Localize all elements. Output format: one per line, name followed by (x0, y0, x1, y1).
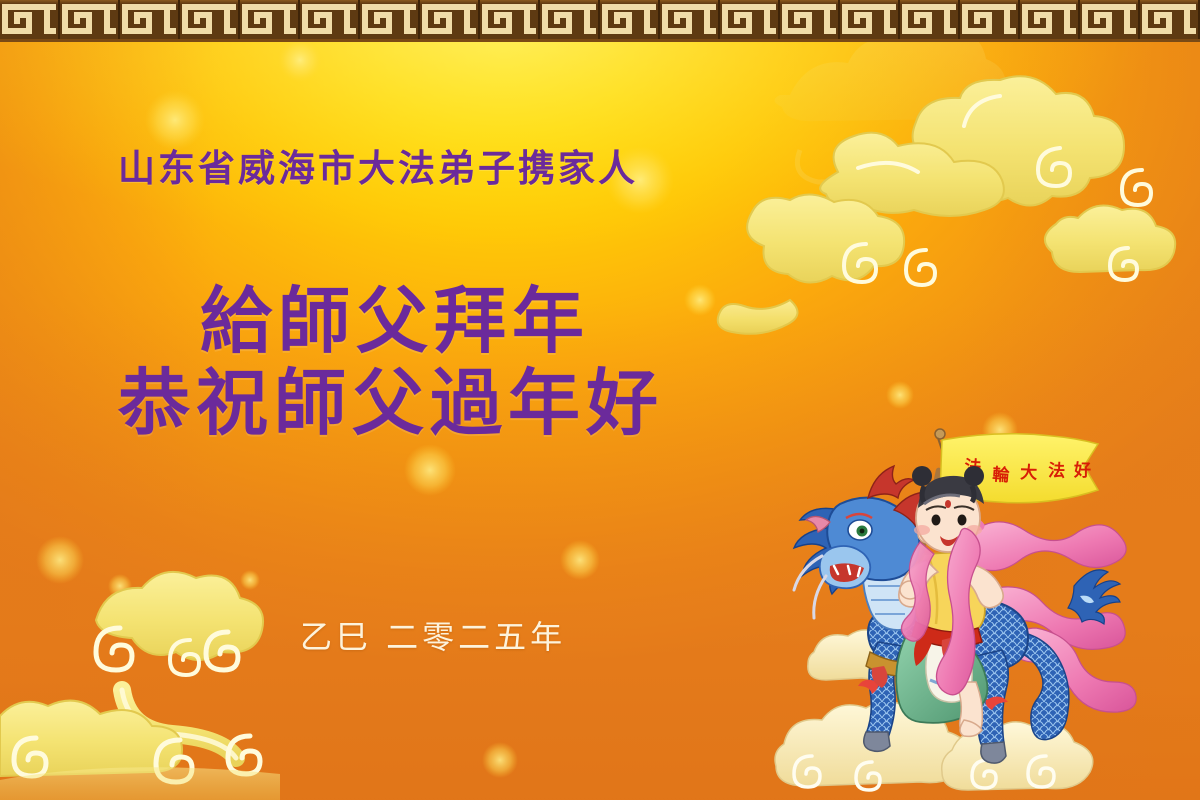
meander-bar (764, 28, 776, 34)
meander-unit (840, 0, 900, 42)
meander-unit (240, 0, 300, 42)
cloud-top-right-large (913, 76, 1151, 205)
bokeh-circle (404, 444, 456, 496)
meander-bar (1004, 28, 1016, 34)
meander-bar (1184, 28, 1196, 34)
meander-unit (480, 0, 540, 42)
cloud-wisp-right (718, 300, 798, 334)
meander-bar (74, 12, 80, 24)
cloud-top-right-small (1045, 206, 1175, 281)
meander-bar (284, 28, 296, 34)
cloud-mid-right-band (747, 133, 1004, 285)
meander-bar (374, 12, 380, 24)
meander-pattern-row (0, 0, 1200, 42)
meander-bar (974, 12, 980, 24)
meander-bar (14, 12, 20, 24)
meander-bar (1124, 28, 1136, 34)
meander-bar (104, 28, 116, 34)
meander-bar (404, 28, 416, 34)
meander-bar (674, 12, 680, 24)
meander-bar (1094, 12, 1100, 24)
meander-bar (1154, 12, 1160, 24)
cloud-bottom-left (0, 572, 280, 800)
meander-bar (704, 28, 716, 34)
meander-unit (420, 0, 480, 42)
meander-bar (524, 28, 536, 34)
meander-unit (60, 0, 120, 42)
meander-unit (900, 0, 960, 42)
banner-text: 好 (1073, 460, 1092, 481)
bokeh-circle (145, 90, 205, 150)
meander-bar (734, 12, 740, 24)
bokeh-circle (684, 284, 716, 316)
meander-bar (1034, 12, 1040, 24)
greeting-main-line-2: 恭祝師父過年好 (118, 344, 664, 449)
banner-text: 輪 (992, 464, 1011, 486)
meander-bar (794, 12, 800, 24)
meander-bar (644, 28, 656, 34)
meander-bar (314, 12, 320, 24)
bokeh-circle (482, 742, 518, 778)
meander-bar (224, 28, 236, 34)
bokeh-circle (606, 146, 674, 214)
meander-unit (960, 0, 1020, 42)
meander-bar (434, 12, 440, 24)
meander-unit (1080, 0, 1140, 42)
meander-bar (464, 28, 476, 34)
meander-bar (1064, 28, 1076, 34)
bokeh-circle (278, 38, 322, 82)
meander-unit (120, 0, 180, 42)
meander-bar (194, 12, 200, 24)
bokeh-circle (240, 570, 260, 590)
banner-text: 法 (1048, 460, 1067, 482)
bokeh-circle (36, 536, 84, 584)
meander-bar (254, 12, 260, 24)
banner-text: 大 (1020, 462, 1039, 484)
meander-bar (164, 28, 176, 34)
meander-unit (780, 0, 840, 42)
meander-unit (660, 0, 720, 42)
meander-bar (344, 28, 356, 34)
meander-unit (600, 0, 660, 42)
sender-line: 山东省威海市大法弟子携家人 (118, 138, 638, 192)
meander-unit (0, 0, 60, 42)
meander-unit (300, 0, 360, 42)
greek-key-meander-border (0, 0, 1200, 42)
meander-bar (824, 28, 836, 34)
meander-unit (1020, 0, 1080, 42)
meander-bar (854, 12, 860, 24)
meander-bar (584, 28, 596, 34)
meander-bar (914, 12, 920, 24)
bokeh-circle (560, 540, 600, 580)
meander-unit (540, 0, 600, 42)
date-line: 乙巳 二零二五年 (300, 612, 566, 658)
illustration-child-riding-dragon: 法 輪 大 法 好 (774, 414, 1154, 794)
greeting-card: 法 輪 大 法 好 (0, 0, 1200, 800)
meander-bar (134, 12, 140, 24)
meander-bar (494, 12, 500, 24)
meander-unit (1140, 0, 1200, 42)
bokeh-circle (886, 381, 914, 409)
meander-unit (180, 0, 240, 42)
cloud-ghost-top-right (774, 25, 1005, 182)
greeting-main-line-1: 給師父拜年 (200, 262, 590, 367)
meander-bar (554, 12, 560, 24)
bokeh-circle (108, 574, 132, 598)
meander-bar (614, 12, 620, 24)
meander-bar (884, 28, 896, 34)
meander-unit (360, 0, 420, 42)
meander-bar (944, 28, 956, 34)
meander-unit (720, 0, 780, 42)
meander-bar (44, 28, 56, 34)
